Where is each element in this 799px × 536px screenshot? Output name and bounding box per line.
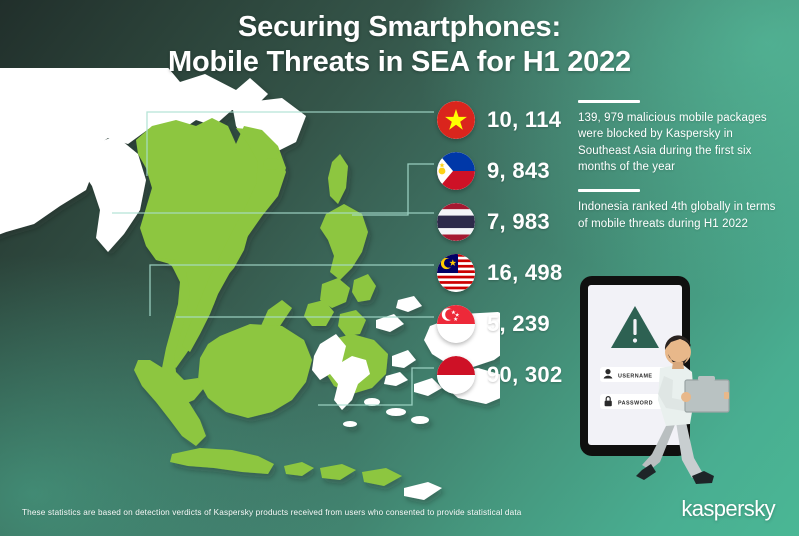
flag-vietnam-icon (437, 101, 475, 139)
stat-row: 90, 302 (437, 349, 587, 400)
stat-row: 7, 983 (437, 196, 587, 247)
map-region-maluku-a (392, 350, 416, 368)
map-region-bali (284, 462, 314, 476)
statistics-list: 10, 114 9, 843 (437, 94, 587, 400)
map-region-hainan (263, 158, 281, 170)
map-region-borneo (198, 324, 312, 418)
map-islet-b (386, 408, 406, 416)
password-label: PASSWORD (618, 401, 653, 407)
map-region-luzon (320, 204, 368, 280)
flag-thailand-icon (437, 203, 475, 241)
username-label: USERNAME (618, 374, 652, 380)
stat-value: 10, 114 (487, 107, 561, 133)
stat-value: 90, 302 (487, 362, 563, 388)
briefcase (685, 380, 729, 412)
stat-value: 5, 239 (487, 311, 550, 337)
stat-row: 5, 239 (437, 298, 587, 349)
map-region-java (170, 448, 274, 474)
map-islet-c (411, 416, 429, 424)
note-text: Indonesia ranked 4th globally in terms o… (578, 199, 778, 232)
note-divider (578, 100, 640, 103)
note-block: Indonesia ranked 4th globally in terms o… (578, 189, 778, 232)
flag-singapore-icon (437, 305, 475, 343)
footer-disclaimer: These statistics are based on detection … (22, 508, 521, 517)
stat-value: 16, 498 (487, 260, 563, 286)
map-region-halmahera (376, 314, 404, 332)
map-region-lombok (320, 464, 356, 480)
kaspersky-logo: kaspersky (681, 496, 775, 522)
map-region-taiwan (328, 154, 348, 204)
map-region-flores (362, 468, 402, 486)
stat-row: 9, 843 (437, 145, 587, 196)
sea-map (0, 68, 500, 518)
page-title: Securing Smartphones: Mobile Threats in … (0, 10, 799, 81)
map-region-myanmar (80, 136, 146, 252)
notes-panel: 139, 979 malicious mobile packages were … (578, 100, 778, 246)
flag-indonesia-icon (437, 356, 475, 394)
stat-value: 7, 983 (487, 209, 550, 235)
stat-row: 16, 498 (437, 247, 587, 298)
map-islet-a (364, 398, 380, 406)
map-islet-d (343, 421, 357, 427)
note-block: 139, 979 malicious mobile packages were … (578, 100, 778, 175)
infographic-canvas: Securing Smartphones: Mobile Threats in … (0, 0, 799, 536)
note-divider (578, 189, 640, 192)
phone-illustration: USERNAME PASSWORD (572, 272, 787, 502)
map-region-morotai (396, 296, 422, 312)
map-region-visayas-d (338, 310, 366, 336)
map-region-maluku-b (384, 372, 408, 386)
map-region-visayas-b (352, 274, 376, 302)
stat-row: 10, 114 (437, 94, 587, 145)
flag-malaysia-icon (437, 254, 475, 292)
map-region-timor (404, 482, 442, 500)
flag-philippines-icon (437, 152, 475, 190)
note-text: 139, 979 malicious mobile packages were … (578, 110, 778, 175)
stat-value: 9, 843 (487, 158, 550, 184)
